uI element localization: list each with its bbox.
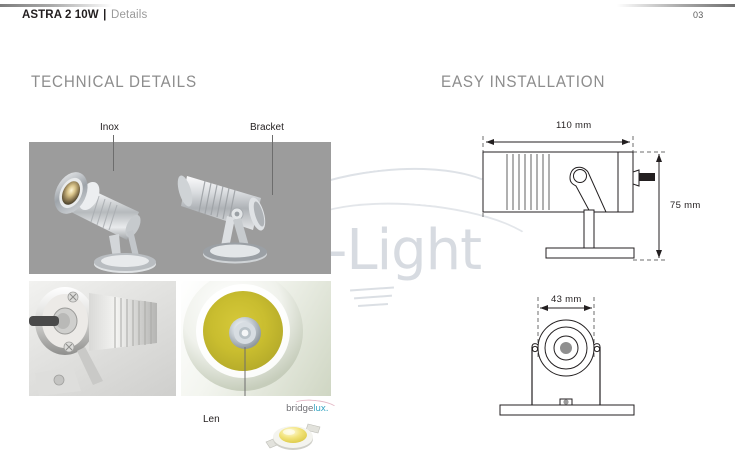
callout-label-inox: Inox (100, 122, 119, 133)
drawing-front-view (480, 285, 680, 450)
bridgelux-word-part2: lux. (313, 404, 328, 414)
dimension-label-height-side: 75 mm (670, 200, 701, 211)
watermark-dash-2 (354, 295, 392, 300)
watermark-dash-1 (350, 286, 394, 291)
header-section-label: Details (111, 9, 148, 21)
dimension-label-width-side: 110 mm (556, 120, 591, 131)
product-title: ASTRA 2 10W (22, 9, 99, 21)
page-header: ASTRA 2 10W | Details (22, 9, 148, 21)
section-title-technical-details: TECHNICAL DETAILS (31, 73, 197, 92)
bridgelux-logo: bridgelux. (286, 401, 338, 416)
photo-br-artwork (181, 281, 331, 396)
product-photo-lens-detail (181, 281, 331, 396)
callout-label-len: Len (203, 414, 220, 425)
product-photo-two-fixtures (29, 142, 331, 274)
bridgelux-wordmark: bridgelux. (286, 404, 328, 414)
section-title-easy-installation: EASY INSTALLATION (441, 73, 605, 92)
watermark-dash-3 (358, 303, 388, 307)
header-rule-right (617, 4, 735, 7)
page-number: 03 (693, 10, 704, 20)
photo-bl-artwork (29, 281, 176, 396)
photo-top-artwork (29, 142, 331, 274)
header-rule-left (0, 4, 112, 7)
drawing-side-view (440, 110, 702, 282)
header-separator: | (103, 9, 106, 21)
callout-leader-bracket (272, 135, 273, 195)
bridgelux-word-part1: bridge (286, 404, 313, 414)
led-emitter-chip (262, 418, 324, 454)
callout-label-bracket: Bracket (250, 122, 284, 133)
product-photo-rear-detail (29, 281, 176, 396)
dimension-label-width-front: 43 mm (551, 294, 582, 305)
callout-leader-inox (113, 135, 114, 171)
